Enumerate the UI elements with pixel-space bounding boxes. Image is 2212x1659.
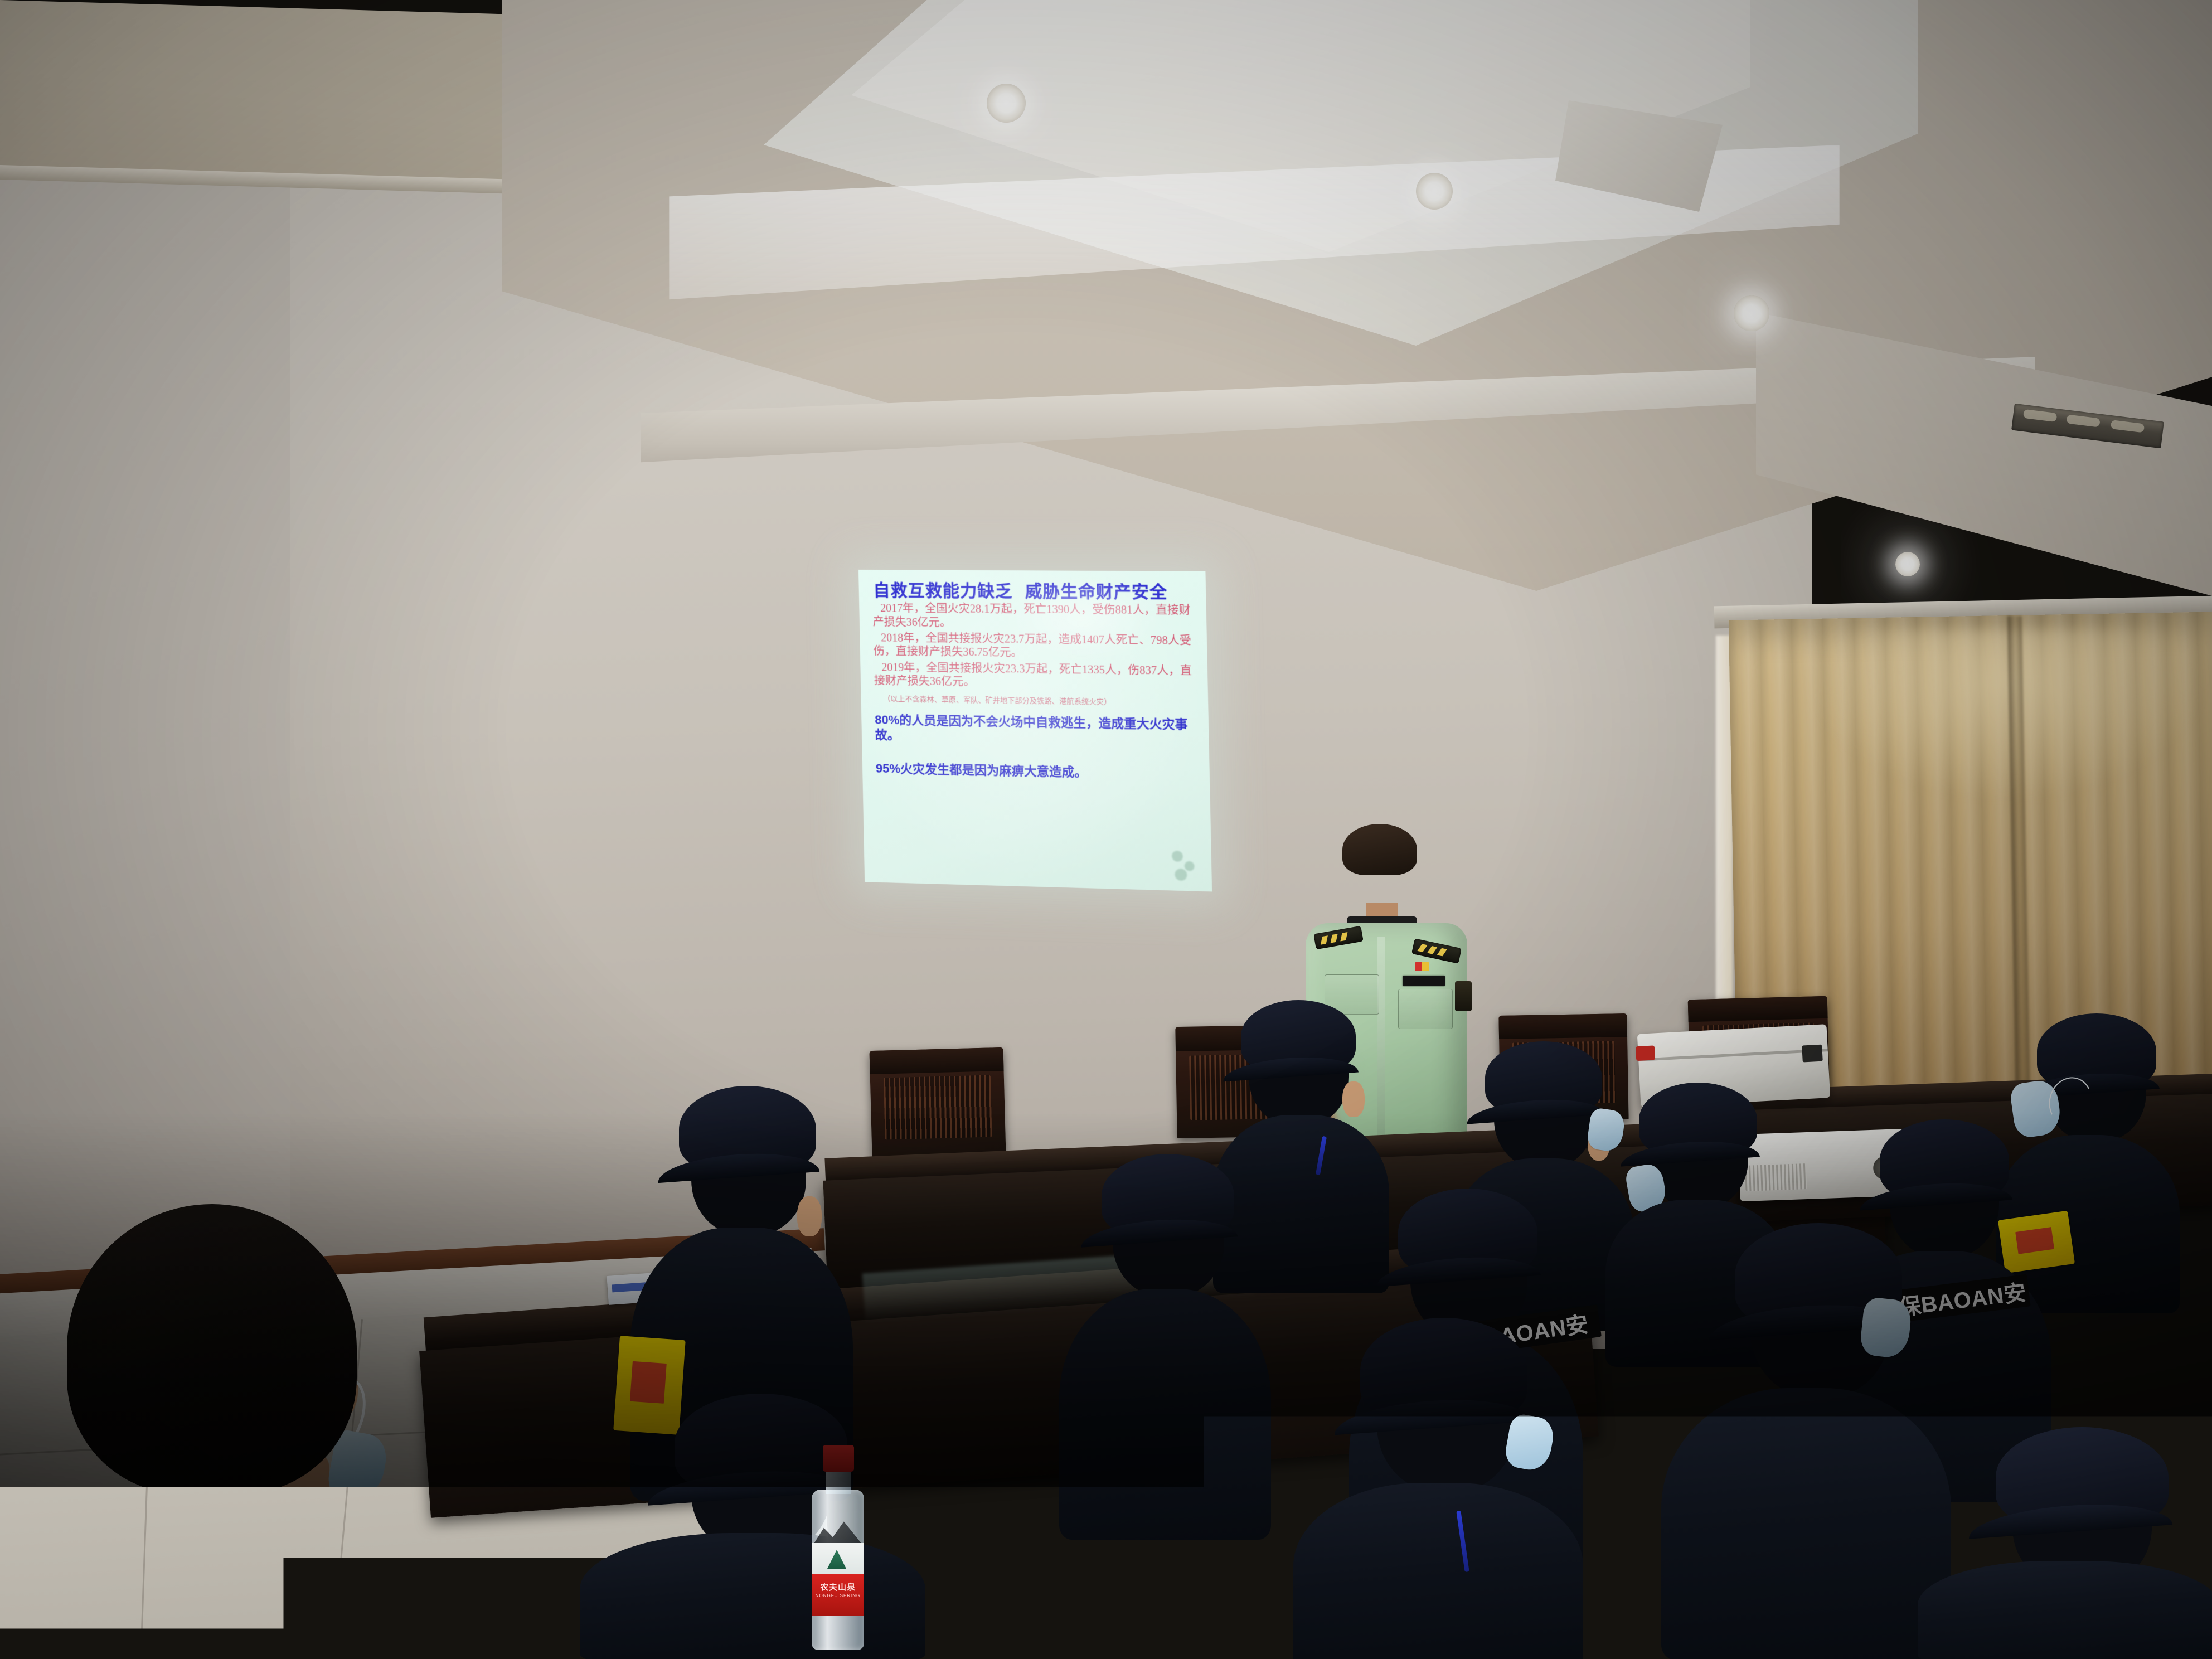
slide-heading-part1: 自救互救能力缺乏 bbox=[873, 581, 1012, 601]
downlight-icon bbox=[987, 84, 1026, 123]
slide-stat-2019: 2019年，全国共接报火灾23.3万起，死亡1335人，伤837人，直接财产损失… bbox=[874, 661, 1197, 692]
uniform-cap bbox=[1241, 1000, 1356, 1073]
slide-highlight-95: 95%火灾发生都是因为麻痹大意造成。 bbox=[876, 761, 1200, 782]
presenter-right-pocket bbox=[1398, 989, 1453, 1029]
attendee bbox=[1661, 1215, 1951, 1659]
water-bottle[interactable]: 农夫山泉 NONGFU SPRING bbox=[807, 1445, 869, 1651]
curtain-daylight-glow bbox=[1812, 630, 2202, 797]
uniform-cap bbox=[1639, 1083, 1757, 1157]
uniform-cap bbox=[679, 1086, 816, 1173]
slide-stat-2018: 2018年，全国共接报火灾23.7万起，造成1407人死亡、798人受伤，直接财… bbox=[873, 631, 1197, 662]
empty-chair[interactable] bbox=[870, 1047, 1006, 1157]
presenter-name-tag bbox=[1403, 976, 1445, 986]
slide-footnote: （以上不含森林、草原、军队、矿井地下部分及铁路、港航系统火灾） bbox=[883, 694, 1197, 707]
uniform-cap bbox=[1398, 1189, 1537, 1277]
uniform-cap bbox=[1360, 1318, 1527, 1424]
flag-badge-icon bbox=[1415, 962, 1429, 971]
attendee bbox=[580, 1394, 925, 1659]
uniform-cap bbox=[1880, 1119, 2009, 1201]
slide-stat-2017: 2017年，全国火灾28.1万起，死亡1390人，受伤881人，直接财产损失36… bbox=[872, 601, 1196, 632]
face-mask-icon bbox=[1859, 1297, 1913, 1359]
uniform-cap bbox=[1102, 1154, 1234, 1238]
uniform-cap bbox=[1485, 1041, 1602, 1115]
bottle-cap[interactable] bbox=[823, 1445, 854, 1472]
downlight-icon bbox=[1734, 295, 1769, 331]
attendee bbox=[1059, 1148, 1271, 1539]
slide-watermark-logo bbox=[1165, 845, 1205, 886]
uniform-cap bbox=[2037, 1013, 2156, 1089]
slide-heading: 自救互救能力缺乏威胁生命财产安全 bbox=[873, 582, 1195, 601]
downlight-icon bbox=[1895, 552, 1920, 576]
slide-heading-part2: 威胁生命财产安全 bbox=[1025, 583, 1167, 602]
left-wall-panel bbox=[0, 84, 290, 1338]
downlight-icon bbox=[1416, 173, 1453, 210]
slide-highlight-80: 80%的人员是因为不会火场中自救逃生，造成重大火灾事故。 bbox=[875, 712, 1199, 748]
projection-screen: 自救互救能力缺乏威胁生命财产安全 2017年，全国火灾28.1万起，死亡1390… bbox=[858, 570, 1212, 891]
bottle-brand-cn: 农夫山泉 bbox=[812, 1581, 864, 1593]
foreground-hair bbox=[67, 1204, 357, 1494]
foreground-attendee bbox=[33, 1193, 535, 1659]
attendee bbox=[1293, 1316, 1583, 1659]
uniform-cap bbox=[1996, 1427, 2169, 1527]
bottle-brand-en: NONGFU SPRING bbox=[812, 1593, 864, 1598]
meeting-room-scene: 自救互救能力缺乏威胁生命财产安全 2017年，全国火灾28.1万起，死亡1390… bbox=[0, 0, 2212, 1659]
presentation-slide: 自救互救能力缺乏威胁生命财产安全 2017年，全国火灾28.1万起，死亡1390… bbox=[858, 570, 1212, 891]
attendee bbox=[1918, 1427, 2212, 1659]
shoulder-patch-icon bbox=[1455, 981, 1472, 1011]
